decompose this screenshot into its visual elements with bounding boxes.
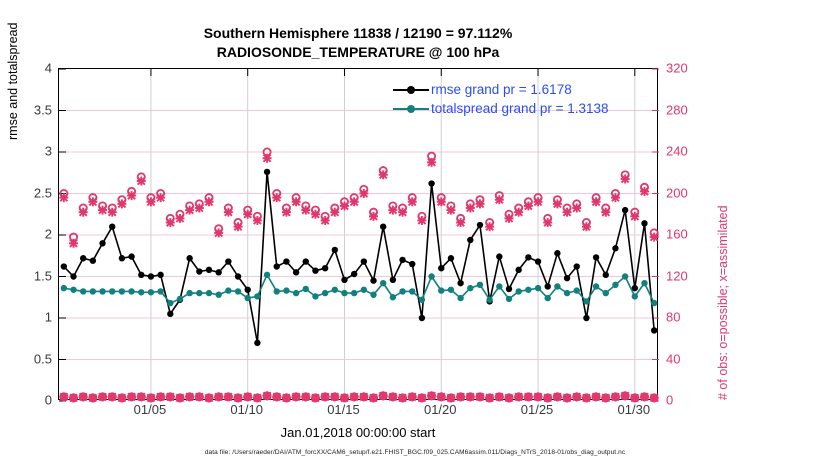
legend: rmse grand pr = 1.6178 totalspread grand…	[393, 80, 643, 118]
y-axis-left-tick-label: 3	[6, 144, 52, 159]
legend-label-rmse: rmse grand pr = 1.6178	[429, 82, 572, 97]
legend-item-totalspread[interactable]: totalspread grand pr = 1.3138	[393, 99, 643, 118]
y-axis-right-ticks: 04080120160200240280320	[658, 68, 718, 400]
y-axis-right-tick-label: 320	[666, 61, 688, 76]
y-axis-right-tick-label: 160	[666, 227, 688, 242]
y-axis-left-tick-label: 1	[6, 310, 52, 325]
y-axis-left-tick-label: 4	[6, 61, 52, 76]
y-axis-right-tick-label: 240	[666, 144, 688, 159]
y-axis-right-tick-label: 40	[666, 351, 680, 366]
y-axis-right-tick-label: 120	[666, 268, 688, 283]
chart-title-line2: RADIOSONDE_TEMPERATURE @ 100 hPa	[58, 43, 658, 62]
x-axis-tick-label: 01/15	[327, 402, 360, 417]
y-axis-left-tick-label: 0	[6, 393, 52, 408]
y-axis-right-tick-label: 280	[666, 102, 688, 117]
y-axis-right-tick-label: 200	[666, 185, 688, 200]
data-file-footer: data file: /Users/raeder/DAI/ATM_forcXX/…	[0, 449, 830, 456]
x-axis-tick-label: 01/20	[424, 402, 457, 417]
legend-marker-totalspread	[393, 102, 429, 116]
x-axis-label: Jan.01,2018 00:00:00 start	[58, 425, 658, 440]
y-axis-left-tick-label: 1.5	[6, 268, 52, 283]
x-axis-tick-label: 01/25	[521, 402, 554, 417]
legend-marker-rmse	[393, 83, 429, 97]
x-axis-tick-label: 01/05	[134, 402, 167, 417]
x-axis-ticks: 01/0501/1001/1501/2001/2501/30	[58, 402, 658, 426]
x-axis-tick-label: 01/30	[618, 402, 651, 417]
y-axis-left-tick-label: 0.5	[6, 351, 52, 366]
legend-label-totalspread: totalspread grand pr = 1.3138	[429, 101, 609, 116]
plot-graphics	[59, 69, 659, 401]
chart-title: Southern Hemisphere 11838 / 12190 = 97.1…	[58, 24, 658, 62]
y-axis-right-tick-label: 0	[666, 393, 673, 408]
y-axis-left-tick-label: 2.5	[6, 185, 52, 200]
y-axis-right-tick-label: 80	[666, 310, 680, 325]
figure-canvas: Southern Hemisphere 11838 / 12190 = 97.1…	[0, 0, 830, 470]
y-axis-left-ticks: 00.511.522.533.54	[0, 68, 52, 400]
y-axis-left-tick-label: 3.5	[6, 102, 52, 117]
x-axis-tick-label: 01/10	[230, 402, 263, 417]
legend-item-rmse[interactable]: rmse grand pr = 1.6178	[393, 80, 643, 99]
chart-title-line1: Southern Hemisphere 11838 / 12190 = 97.1…	[58, 24, 658, 43]
y-axis-left-tick-label: 2	[6, 227, 52, 242]
y-axis-right-label: # of obs: o=possible; x=assimilated	[716, 205, 730, 400]
